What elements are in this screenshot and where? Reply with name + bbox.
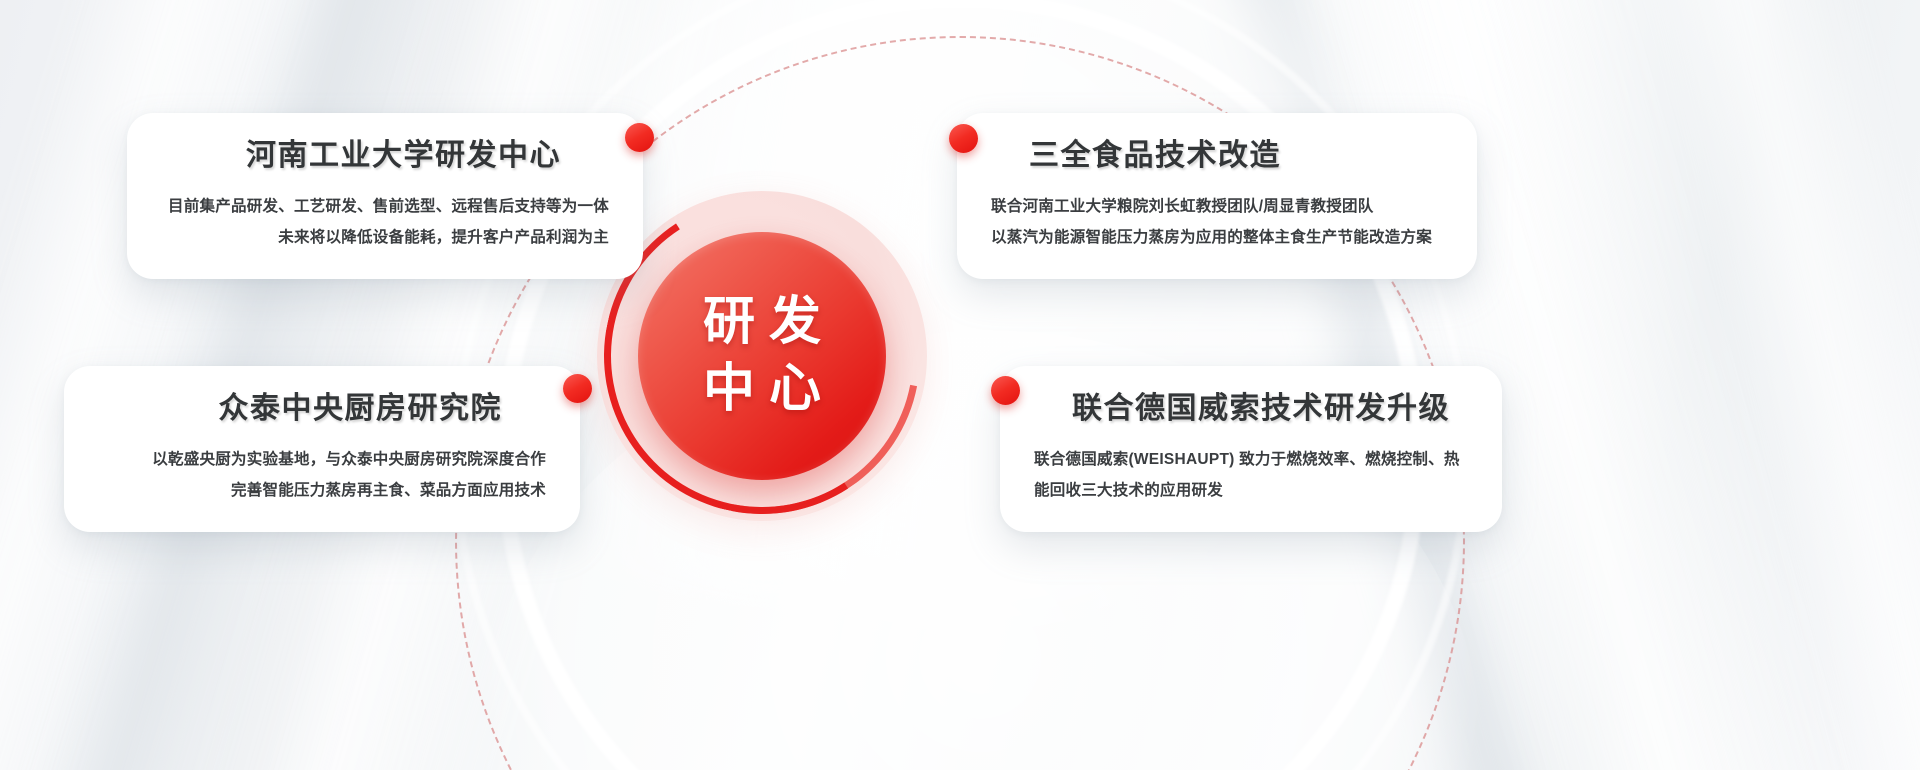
card-body-line: 完善智能压力蒸房再主食、菜品方面应用技术 (98, 475, 546, 506)
card-title: 众泰中央厨房研究院 (98, 390, 502, 428)
card-weishaupt-joint-rd-upgrade[interactable]: 联合德国威索技术研发升级 联合德国威索(WEISHAUPT) 致力于燃烧效率、燃… (1000, 366, 1502, 532)
card-body-line: 目前集产品研发、工艺研发、售前选型、远程售后支持等为一体 (161, 191, 609, 222)
infographic-stage: 研发 中心 河南工业大学研发中心 目前集产品研发、工艺研发、售前选型、远程售后支… (0, 0, 1920, 770)
background-streak (1600, 0, 1920, 770)
card-body: 联合河南工业大学粮院刘长虹教授团队/周显青教授团队 以蒸汽为能源智能压力蒸房为应… (991, 191, 1443, 254)
card-sanquan-food-tech-upgrade[interactable]: 三全食品技术改造 联合河南工业大学粮院刘长虹教授团队/周显青教授团队 以蒸汽为能… (957, 113, 1477, 279)
card-marker-dot-icon (625, 123, 654, 152)
card-body: 联合德国威索(WEISHAUPT) 致力于燃烧效率、燃烧控制、热 能回收三大技术… (1034, 444, 1468, 506)
card-title: 三全食品技术改造 (1029, 137, 1443, 175)
card-body: 目前集产品研发、工艺研发、售前选型、远程售后支持等为一体 未来将以降低设备能耗，… (161, 191, 609, 254)
card-marker-dot-icon (563, 374, 592, 403)
badge-core-circle: 研发 中心 (638, 232, 886, 480)
card-henan-university-rd-center[interactable]: 河南工业大学研发中心 目前集产品研发、工艺研发、售前选型、远程售后支持等为一体 … (127, 113, 643, 279)
card-body-line: 能回收三大技术的应用研发 (1034, 475, 1468, 506)
badge-title-line-1: 研发 (689, 292, 835, 353)
card-zhongtai-central-kitchen-institute[interactable]: 众泰中央厨房研究院 以乾盛央厨为实验基地，与众泰中央厨房研究院深度合作 完善智能… (64, 366, 580, 532)
card-marker-dot-icon (991, 376, 1020, 405)
center-badge: 研发 中心 (597, 191, 927, 521)
badge-title-line-2: 中心 (689, 359, 835, 420)
card-title: 河南工业大学研发中心 (161, 137, 561, 175)
card-body-line: 以乾盛央厨为实验基地，与众泰中央厨房研究院深度合作 (98, 444, 546, 475)
card-body-line: 以蒸汽为能源智能压力蒸房为应用的整体主食生产节能改造方案 (991, 222, 1443, 253)
card-body-line: 联合德国威索(WEISHAUPT) 致力于燃烧效率、燃烧控制、热 (1034, 444, 1468, 475)
card-body: 以乾盛央厨为实验基地，与众泰中央厨房研究院深度合作 完善智能压力蒸房再主食、菜品… (98, 444, 546, 507)
card-body-line: 未来将以降低设备能耗，提升客户产品利润为主 (161, 222, 609, 253)
card-title: 联合德国威索技术研发升级 (1072, 390, 1468, 428)
card-body-line: 联合河南工业大学粮院刘长虹教授团队/周显青教授团队 (991, 191, 1443, 222)
card-marker-dot-icon (949, 124, 978, 153)
